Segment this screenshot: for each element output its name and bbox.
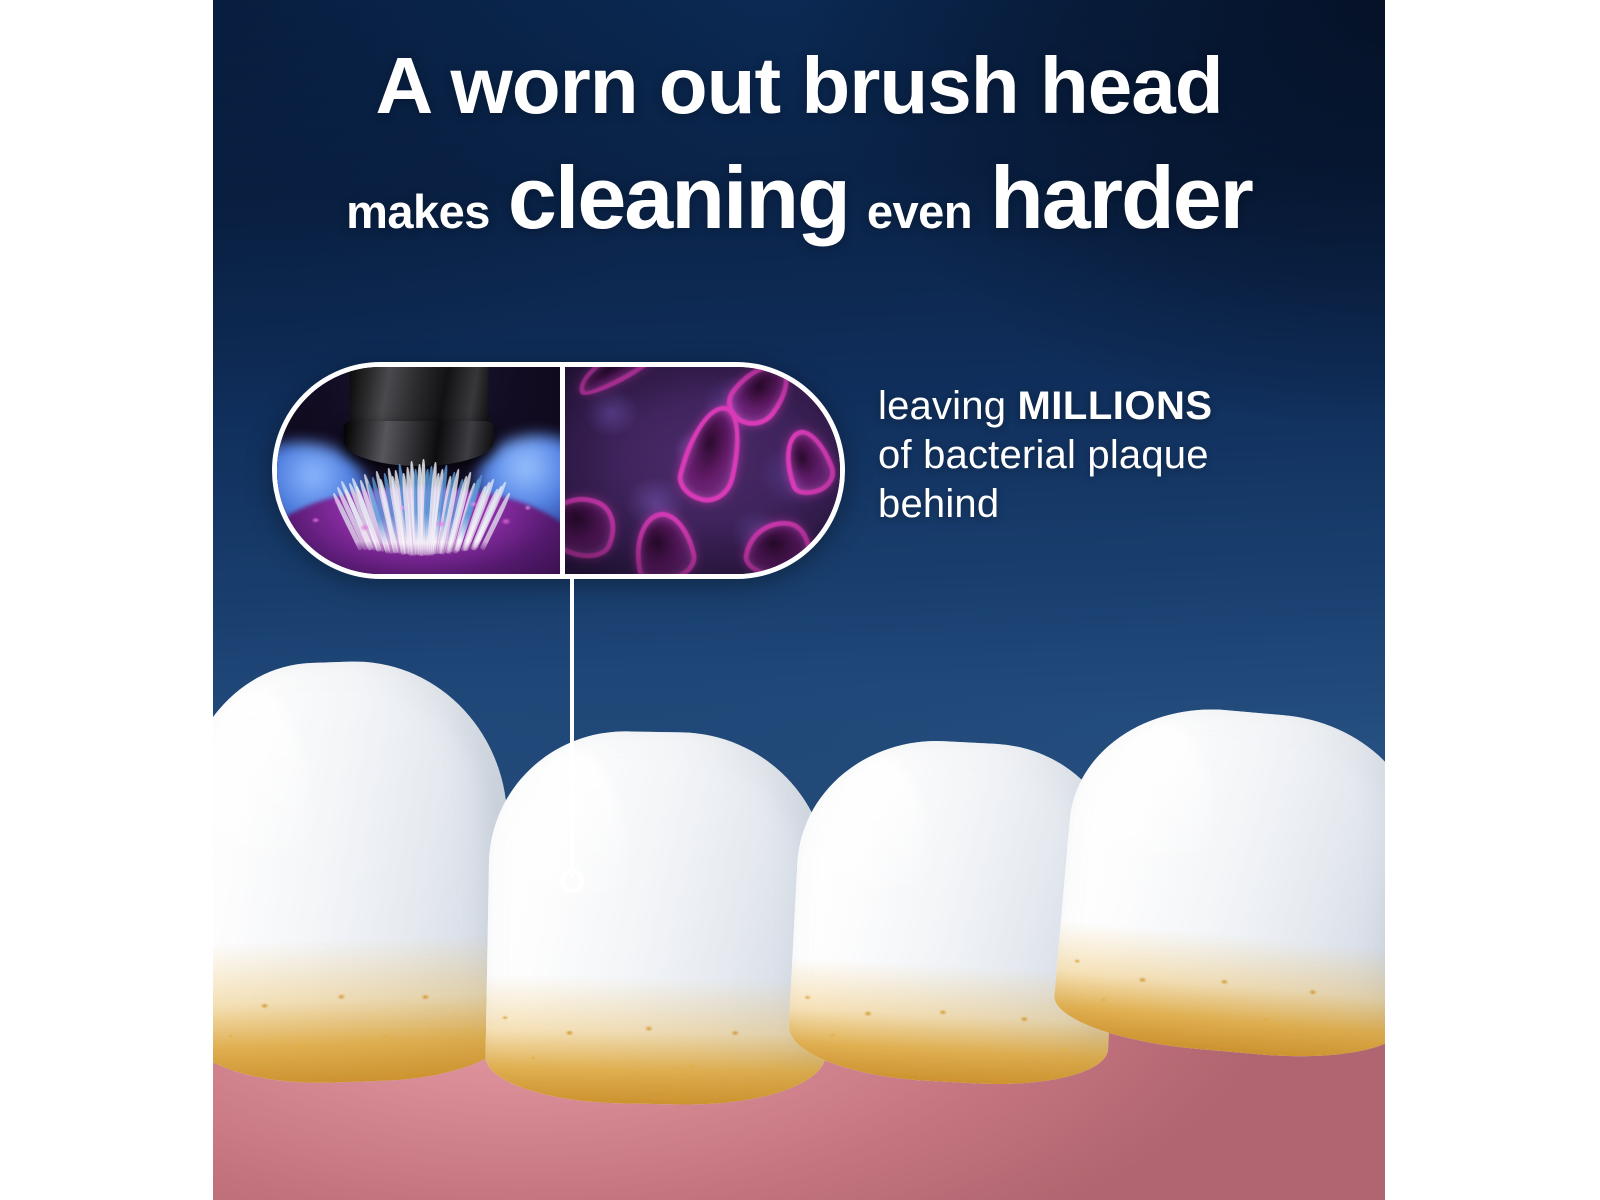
bacteria-rod	[718, 367, 800, 437]
tooth	[213, 656, 516, 1087]
bacteria-rod	[774, 423, 840, 501]
headline-line-1: A worn out brush head	[213, 46, 1385, 126]
bacteria-scene	[561, 367, 840, 574]
pointer-line	[570, 578, 574, 878]
headline: A worn out brush head makes cleaning eve…	[213, 46, 1385, 242]
tartar-buildup	[213, 933, 516, 1088]
capsule-left-brush-scene	[277, 367, 561, 574]
body-copy-leading: leaving	[878, 384, 1017, 428]
capsule-inset-image	[272, 362, 845, 579]
teeth-and-gums-illustration	[213, 580, 1385, 1200]
body-copy-line-1: leaving MILLIONS	[878, 382, 1348, 431]
capsule-right-bacteria-scene	[561, 367, 840, 574]
tooth-highlight	[824, 756, 931, 965]
bacteria-rod	[741, 516, 815, 574]
body-copy-millions: MILLIONS	[1017, 384, 1212, 428]
bacteria-rod	[570, 367, 668, 402]
tooth	[1051, 697, 1385, 1066]
brush-scene	[277, 367, 561, 574]
plaque-spray-particles	[283, 483, 555, 545]
tooth-highlight	[213, 688, 313, 943]
bacteria-rod	[794, 367, 840, 408]
body-copy-line-3: behind	[878, 480, 1348, 529]
advertisement-canvas: A worn out brush head makes cleaning eve…	[0, 0, 1600, 1200]
tooth-highlight	[1096, 721, 1218, 933]
headline-word-harder: harder	[990, 154, 1252, 242]
headline-word-makes: makes	[346, 188, 490, 235]
headline-word-even: even	[867, 188, 972, 235]
headline-word-cleaning: cleaning	[508, 154, 849, 242]
bacteria-rod	[561, 483, 626, 569]
tartar-buildup	[485, 974, 831, 1107]
capsule-divider	[560, 367, 565, 574]
body-copy-line-2: of bacterial plaque	[878, 431, 1348, 480]
blue-ad-panel: A worn out brush head makes cleaning eve…	[213, 0, 1385, 1200]
headline-line-2: makes cleaning even harder	[213, 154, 1385, 242]
body-copy: leaving MILLIONS of bacterial plaque beh…	[878, 382, 1348, 528]
bacteria-rod	[672, 399, 750, 509]
bacteria-rod	[627, 506, 702, 574]
pointer-dot-marker	[560, 869, 584, 893]
tooth	[485, 729, 831, 1107]
